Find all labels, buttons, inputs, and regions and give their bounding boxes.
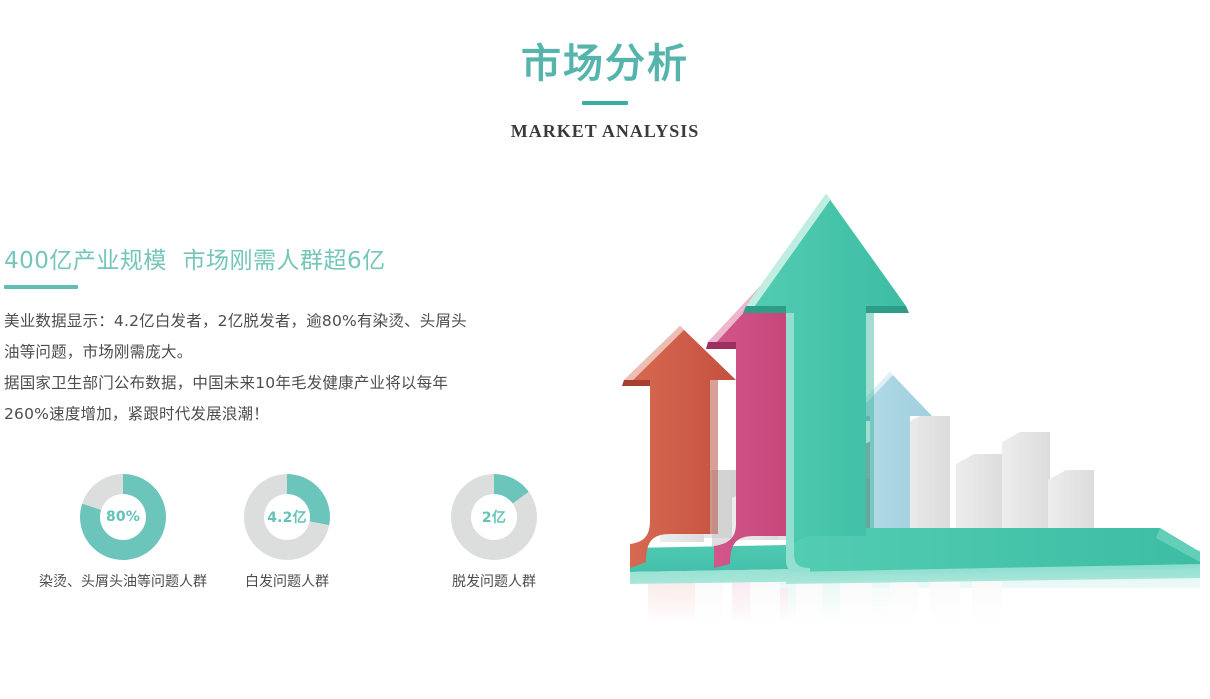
stat-item: 80% 染烫、头屑头油等问题人群 [39, 474, 207, 591]
donut-center: 2亿 [471, 494, 517, 540]
donut-center: 4.2亿 [264, 494, 310, 540]
growth-arrows-illustration [600, 180, 1210, 620]
market-analysis-page: 市场分析 MARKET ANALYSIS 400亿产业规模 市场刚需人群超6亿 … [0, 0, 1210, 699]
donut-value: 80% [106, 509, 140, 525]
body-copy: 美业数据显示：4.2亿白发者，2亿脱发者，逾80%有染烫、头屑头 油等问题，市场… [4, 306, 564, 430]
page-header: 市场分析 MARKET ANALYSIS [0, 0, 1210, 142]
body-line: 据国家卫生部门公布数据，中国未来10年毛发健康产业将以每年 [4, 368, 564, 399]
body-line: 260%速度增加，紧跟时代发展浪潮！ [4, 399, 564, 430]
stat-label: 染烫、头屑头油等问题人群 [39, 571, 207, 591]
donut-chart: 80% [80, 474, 166, 560]
stat-item: 2亿 脱发问题人群 [451, 474, 537, 591]
donut-value: 2亿 [482, 507, 506, 527]
heading-underline [4, 285, 78, 289]
page-title: 市场分析 [0, 44, 1210, 84]
donut-value: 4.2亿 [267, 507, 307, 527]
donut-center: 80% [100, 494, 146, 540]
donut-chart: 4.2亿 [244, 474, 330, 560]
donut-chart: 2亿 [451, 474, 537, 560]
stat-donut-group: 80% 染烫、头屑头油等问题人群 4.2亿 白发问题人群 2亿 脱发问题人群 [0, 474, 600, 594]
page-subtitle: MARKET ANALYSIS [0, 121, 1210, 142]
stat-label: 脱发问题人群 [451, 571, 537, 591]
body-line: 油等问题，市场刚需庞大。 [4, 337, 564, 368]
stat-item: 4.2亿 白发问题人群 [244, 474, 330, 591]
title-divider [582, 101, 628, 105]
section-heading: 400亿产业规模 市场刚需人群超6亿 [4, 248, 564, 276]
body-line: 美业数据显示：4.2亿白发者，2亿脱发者，逾80%有染烫、头屑头 [4, 306, 564, 337]
content-block: 400亿产业规模 市场刚需人群超6亿 美业数据显示：4.2亿白发者，2亿脱发者，… [4, 248, 564, 430]
stat-label: 白发问题人群 [244, 571, 330, 591]
